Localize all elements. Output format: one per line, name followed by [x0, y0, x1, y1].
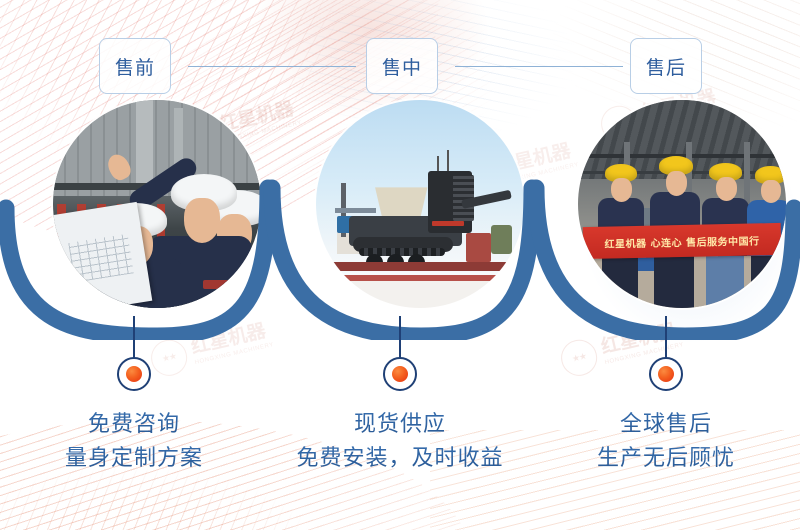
arc-during-sale	[272, 188, 532, 336]
promo-banner: 红星机器 HONGXING MACHINERY 红星机器 HONGXING MA…	[0, 0, 800, 530]
step-connector-line-2	[455, 66, 623, 67]
node-dot-during-sale[interactable]	[383, 357, 417, 391]
dot-core-icon	[392, 366, 408, 382]
node-dot-pre-sale[interactable]	[117, 357, 151, 391]
step-connector-line-1	[188, 66, 356, 67]
caption-line-2: 生产无后顾忧	[516, 442, 800, 476]
step-chip-pre-sale[interactable]: 售前	[99, 38, 171, 94]
stem-line-1	[133, 316, 135, 358]
step-chip-during-sale[interactable]: 售中	[366, 38, 438, 94]
step-chip-after-sale[interactable]: 售后	[630, 38, 702, 94]
step-indicator-row: 售前 售中 售后	[0, 38, 800, 96]
caption-during-sale: 现货供应 免费安装，及时收益	[250, 408, 550, 476]
star-seal-icon	[148, 336, 191, 379]
caption-line-1: 免费咨询	[0, 408, 284, 442]
arc-pre-sale	[6, 188, 268, 336]
arc-after-sale	[536, 188, 794, 336]
caption-line-2: 免费安装，及时收益	[250, 442, 550, 476]
caption-line-1: 全球售后	[516, 408, 800, 442]
caption-after-sale: 全球售后 生产无后顾忧	[516, 408, 800, 476]
node-dot-after-sale[interactable]	[649, 357, 683, 391]
dot-core-icon	[126, 366, 142, 382]
stem-line-3	[665, 316, 667, 358]
star-seal-icon	[558, 336, 601, 379]
dot-core-icon	[658, 366, 674, 382]
caption-pre-sale: 免费咨询 量身定制方案	[0, 408, 284, 476]
caption-line-2: 量身定制方案	[0, 442, 284, 476]
blue-scallop-arcs	[0, 90, 800, 340]
stem-line-2	[399, 316, 401, 358]
caption-line-1: 现货供应	[250, 408, 550, 442]
